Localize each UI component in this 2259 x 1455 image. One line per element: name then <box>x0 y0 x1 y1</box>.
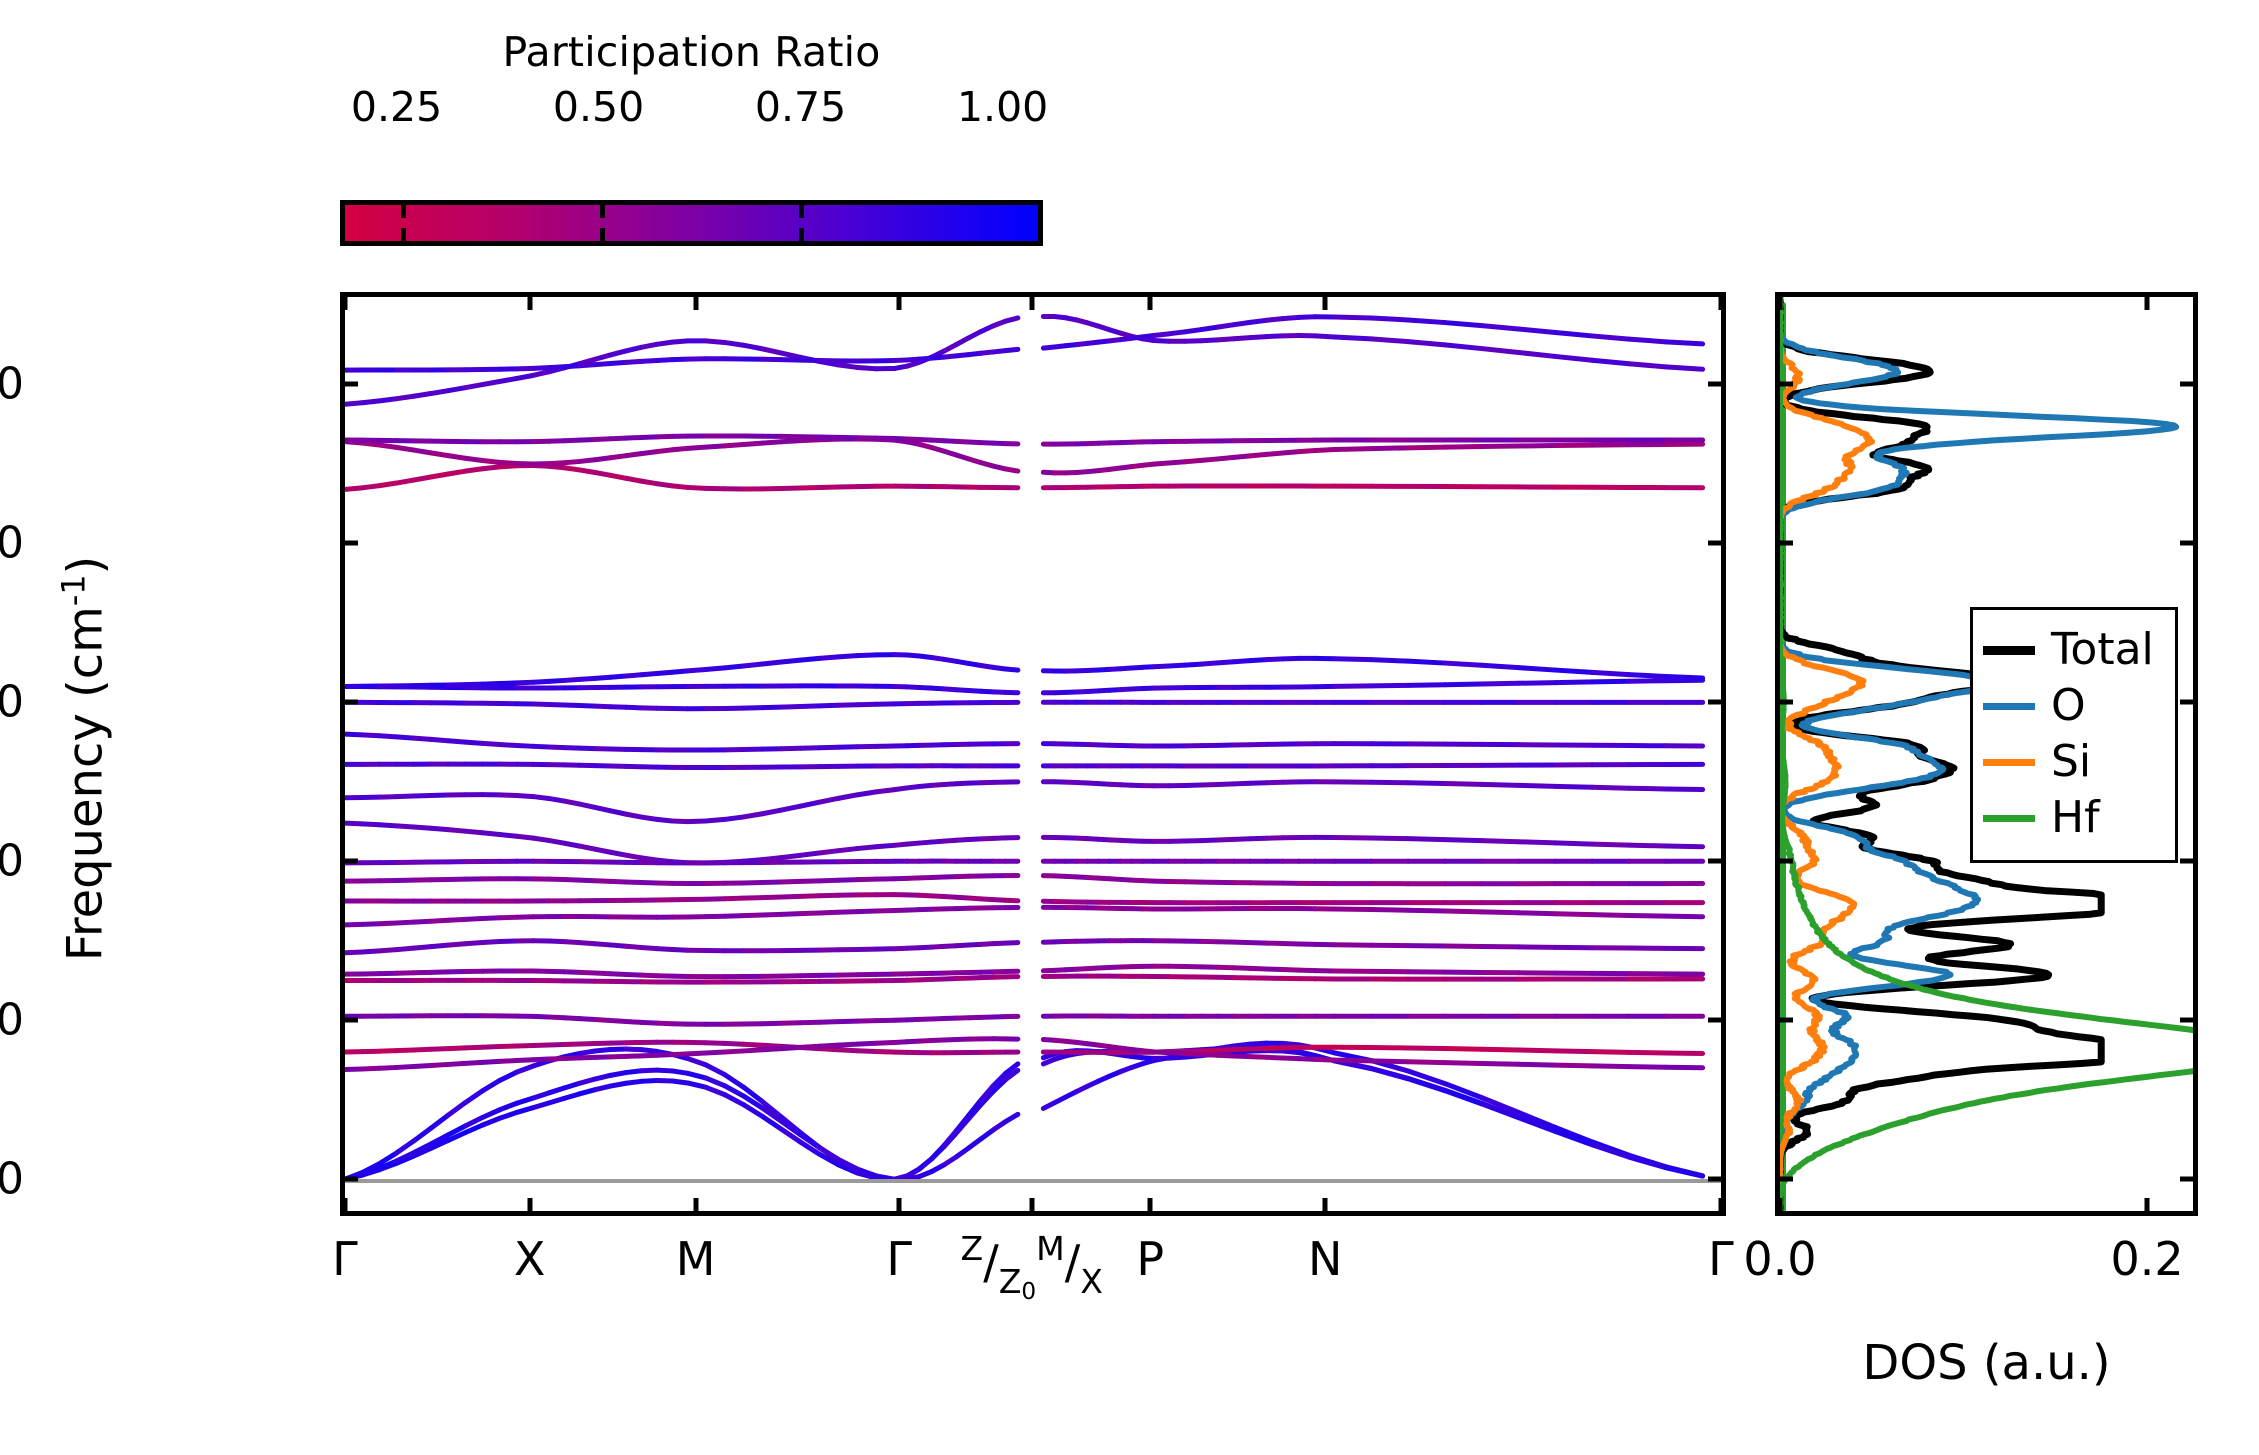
y-tick-label-400: 400 <box>0 836 24 887</box>
x-tick-label-1: X <box>514 1232 546 1286</box>
label-m-over-x: M/X <box>1036 1232 1103 1298</box>
x-tick-label-4: Z/Z0M/X <box>961 1232 1103 1303</box>
y-tick-label-800: 800 <box>0 518 24 569</box>
dos-x-tick-label-0: 0.0 <box>1743 1232 1816 1286</box>
x-tick-label-3: Γ <box>886 1232 912 1286</box>
x-tick-label-5: P <box>1136 1232 1164 1286</box>
x-tick-label-2: M <box>676 1232 716 1286</box>
label-z-over-z0: Z/Z0 <box>961 1232 1037 1303</box>
axis-tick-layer: 02004006008001000ΓXMΓZ/Z0M/XPNΓ0.00.2 <box>0 0 2259 1455</box>
y-tick-label-600: 600 <box>0 677 24 728</box>
x-tick-label-6: N <box>1308 1232 1342 1286</box>
x-tick-label-0: Γ <box>332 1232 358 1286</box>
figure-root: Participation Ratio 0.25 0.50 0.75 1.00 … <box>0 0 2259 1455</box>
dos-x-tick-label-1: 0.2 <box>2111 1232 2184 1286</box>
y-tick-label-200: 200 <box>0 995 24 1046</box>
y-tick-label-0: 0 <box>0 1154 24 1205</box>
y-tick-label-1000: 1000 <box>0 359 24 410</box>
x-tick-label-7: Γ <box>1708 1232 1734 1286</box>
